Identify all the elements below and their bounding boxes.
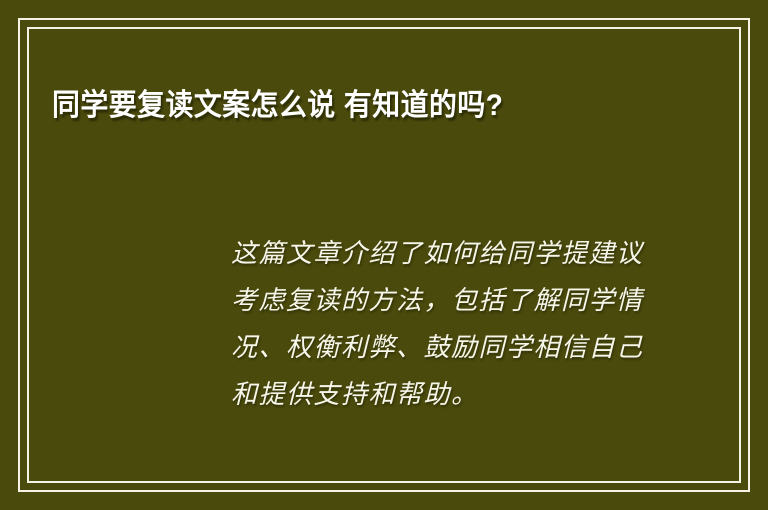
article-card: 同学要复读文案怎么说 有知道的吗? 这篇文章介绍了如何给同学提建议考虑复读的方法…	[0, 0, 768, 510]
article-summary-text: 这篇文章介绍了如何给同学提建议考虑复读的方法，包括了解同学情况、权衡利弊、鼓励同…	[231, 231, 651, 419]
article-title: 同学要复读文案怎么说 有知道的吗?	[52, 80, 629, 132]
